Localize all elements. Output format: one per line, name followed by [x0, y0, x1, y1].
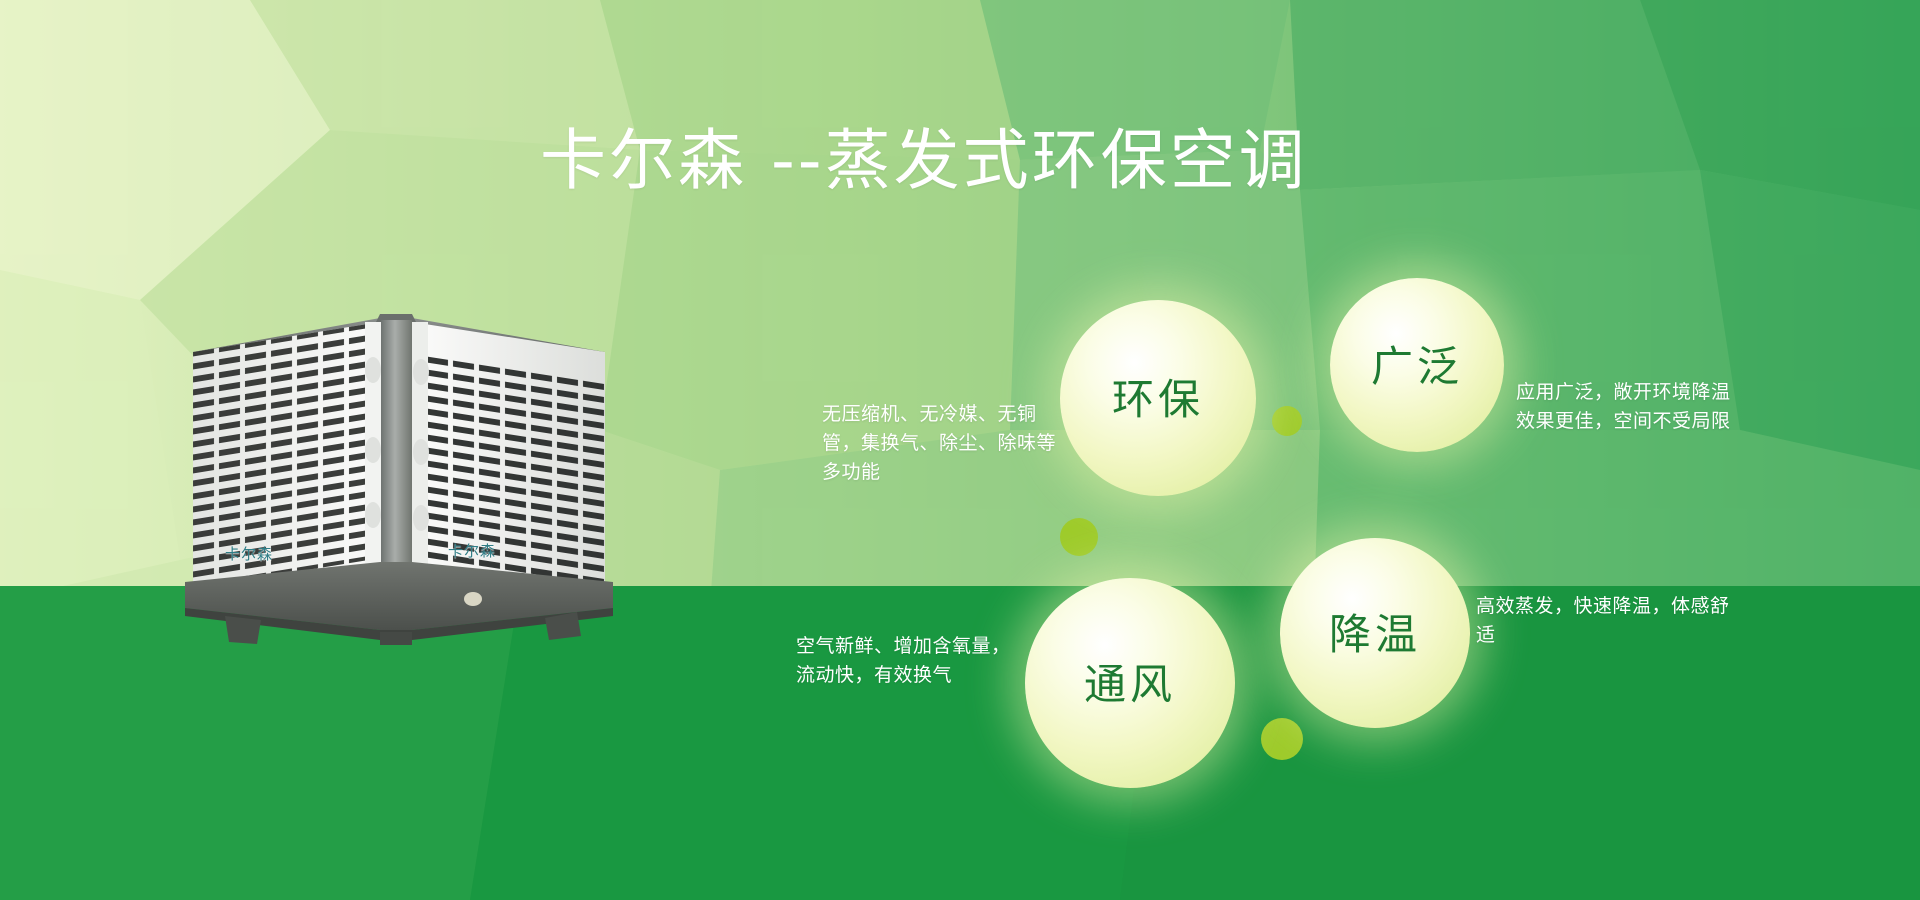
accent-dot-3 — [1261, 718, 1303, 760]
feature-bubble-huanbao[interactable]: 环保 — [1060, 300, 1256, 496]
accent-dot-1 — [1272, 406, 1302, 436]
feature-text-jiangwen: 高效蒸发，快速降温，体感舒适 — [1476, 592, 1738, 650]
bubble-label: 广泛 — [1371, 346, 1463, 388]
product-image: 卡尔森 卡尔森 — [165, 300, 635, 645]
bubble-label: 环保 — [1112, 379, 1204, 421]
accent-dot-2 — [1060, 518, 1098, 556]
feature-bubble-tongfeng[interactable]: 通风 — [1025, 578, 1235, 788]
bubble-label: 降温 — [1329, 614, 1421, 656]
bubble-label: 通风 — [1084, 664, 1176, 706]
promo-banner: 卡尔森 --蒸发式环保空调 — [0, 0, 1920, 900]
feature-bubble-jiangwen[interactable]: 降温 — [1280, 538, 1470, 728]
feature-text-tongfeng: 空气新鲜、增加含氧量，流动快，有效换气 — [796, 632, 1028, 690]
page-title: 卡尔森 --蒸发式环保空调 — [540, 128, 1308, 194]
product-brand-label-left: 卡尔森 — [225, 543, 273, 564]
product-brand-label-right: 卡尔森 — [448, 540, 496, 561]
feature-text-guangfan: 应用广泛，敞开环境降温效果更佳，空间不受局限 — [1516, 378, 1744, 436]
feature-bubble-guangfan[interactable]: 广泛 — [1330, 278, 1504, 452]
air-cooler-illustration — [165, 300, 635, 645]
feature-text-huanbao: 无压缩机、无冷媒、无铜管，集换气、除尘、除味等多功能 — [822, 400, 1064, 487]
